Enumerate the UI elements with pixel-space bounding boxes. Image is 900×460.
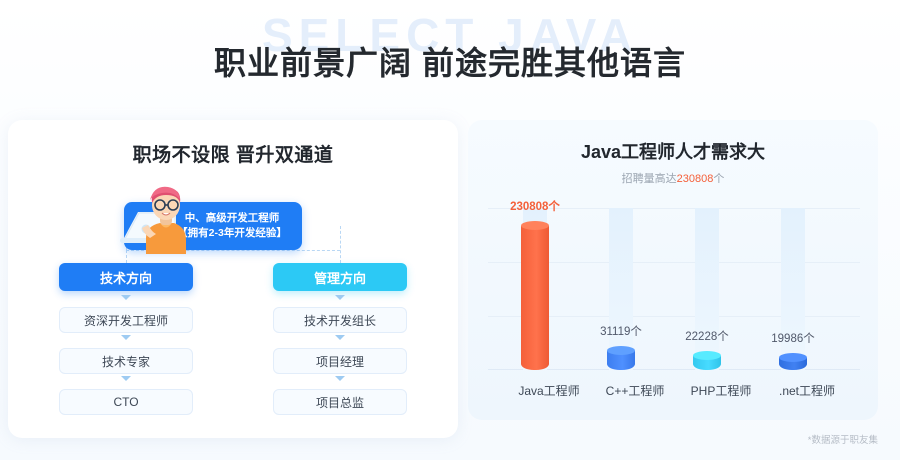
bar-value-label-2: 22228个 <box>685 328 728 344</box>
bar-cap-3 <box>779 353 807 362</box>
caret-right-1 <box>335 295 345 300</box>
career-path-card: 职场不设限 晋升双通道 中、高级开发工程师 【拥有2-3年开发经验】 <box>8 120 458 438</box>
category-label-3: .net工程师 <box>752 382 862 399</box>
branch-button-technical[interactable]: 技术方向 <box>59 263 193 291</box>
chain-item-mgmt-2[interactable]: 项目经理 <box>273 348 407 374</box>
chain-item-tech-3[interactable]: CTO <box>59 389 193 415</box>
chain-item-tech-1[interactable]: 资深开发工程师 <box>59 307 193 333</box>
bar-body-0 <box>521 226 549 370</box>
developer-avatar-icon <box>116 182 202 254</box>
caret-left-3 <box>121 376 131 381</box>
chart-subtitle-value: 230808 <box>677 173 714 185</box>
bar-value-label-1: 31119个 <box>600 323 642 339</box>
connector-right-vertical <box>340 226 341 263</box>
caret-left-1 <box>121 295 131 300</box>
career-path-title: 职场不设限 晋升双通道 <box>129 140 338 167</box>
chart-subtitle: 招聘量高达230808个 <box>468 170 878 186</box>
chain-item-mgmt-1[interactable]: 技术开发组长 <box>273 307 407 333</box>
chart-title-wrap: Java工程师人才需求大 <box>468 138 878 164</box>
bar-chart-plot: 230808个31119个22228个19986个 Java工程师C++工程师P… <box>488 200 860 375</box>
branch-button-management[interactable]: 管理方向 <box>273 263 407 291</box>
chart-subtitle-prefix: 招聘量高达 <box>622 173 677 185</box>
bar-1[interactable]: 31119个 <box>607 321 635 370</box>
career-path-title-wrap: 职场不设限 晋升双通道 <box>8 140 458 167</box>
chain-item-mgmt-3[interactable]: 项目总监 <box>273 389 407 415</box>
caret-right-2 <box>335 335 345 340</box>
branch-label-management: 管理方向 <box>314 268 366 287</box>
bar-3[interactable]: 19986个 <box>779 328 807 370</box>
chart-subtitle-suffix: 个 <box>713 173 724 185</box>
chain-item-tech-2[interactable]: 技术专家 <box>59 348 193 374</box>
slide-canvas: SELECT JAVA 职业前景广阔 前途完胜其他语言 职场不设限 晋升双通道 … <box>0 0 900 460</box>
chart-title: Java工程师人才需求大 <box>577 138 769 164</box>
caret-right-3 <box>335 376 345 381</box>
bar-cap-1 <box>607 346 635 355</box>
branch-label-technical: 技术方向 <box>100 268 152 287</box>
bar-cap-2 <box>693 351 721 360</box>
bar-value-label-3: 19986个 <box>771 330 814 346</box>
bar-value-label-0: 230808个 <box>510 198 560 214</box>
caret-left-2 <box>121 335 131 340</box>
data-source-footnote: *数据源于职友集 <box>808 432 878 446</box>
bar-0[interactable]: 230808个 <box>521 196 549 370</box>
page-title: 职业前景广阔 前途完胜其他语言 <box>0 38 900 84</box>
bar-2[interactable]: 22228个 <box>693 326 721 370</box>
demand-chart-card: Java工程师人才需求大 招聘量高达230808个 230808个31119个2… <box>468 120 878 420</box>
bar-cap-0 <box>521 221 549 230</box>
